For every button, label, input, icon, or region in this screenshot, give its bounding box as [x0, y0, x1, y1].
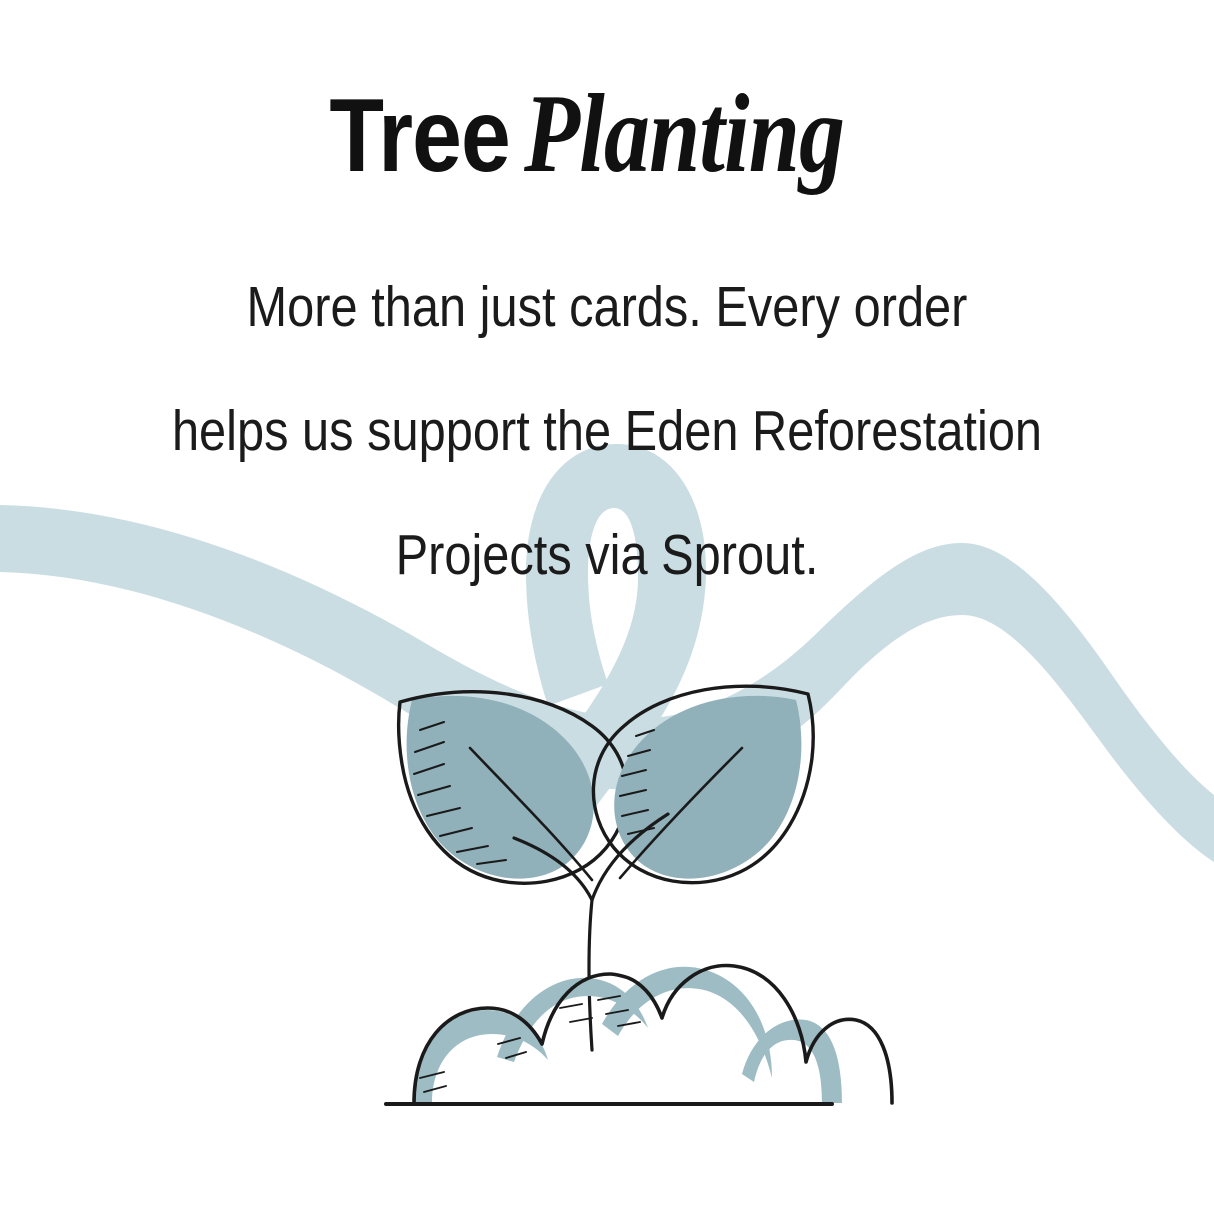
seedling-sprout-illustration — [0, 0, 1214, 1214]
right-leaf — [593, 686, 813, 883]
tree-planting-graphic: TreePlanting More than just cards. Every… — [0, 0, 1214, 1214]
stem-main — [589, 900, 592, 1050]
soil-mound — [386, 966, 892, 1104]
